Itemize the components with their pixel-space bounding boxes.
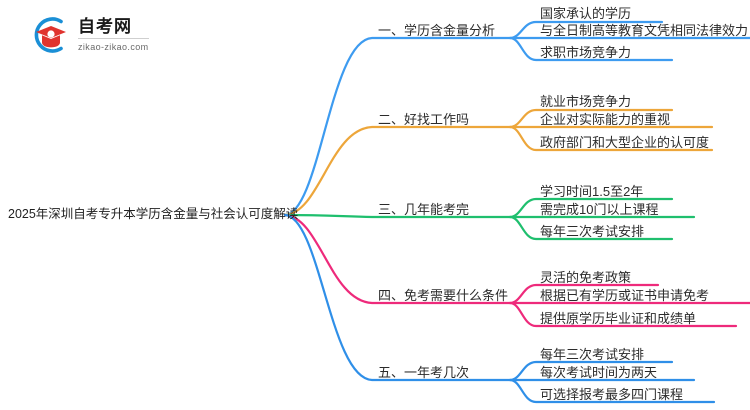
site-logo: 自考网 zikao-zikao.com <box>30 10 200 60</box>
branch-node-2[interactable]: 二、好找工作吗 <box>378 113 469 126</box>
leaf-node-2-2[interactable]: 企业对实际能力的重视 <box>540 113 670 126</box>
leaf-node-2-1[interactable]: 就业市场竞争力 <box>540 95 631 108</box>
logo-title: 自考网 <box>78 17 149 39</box>
branch-node-1[interactable]: 一、学历含金量分析 <box>378 24 495 37</box>
leaf-node-4-2[interactable]: 根据已有学历或证书申请免考 <box>540 289 709 302</box>
logo-mark-icon <box>30 14 72 56</box>
leaf-node-1-1[interactable]: 国家承认的学历 <box>540 7 631 20</box>
leaf-node-4-3[interactable]: 提供原学历毕业证和成绩单 <box>540 312 696 325</box>
leaf-node-5-3[interactable]: 可选择报考最多四门课程 <box>540 388 683 401</box>
branch-node-4[interactable]: 四、免考需要什么条件 <box>378 289 508 302</box>
mindmap-canvas: 自考网 zikao-zikao.com <box>0 0 750 410</box>
graduation-cap-icon <box>30 14 72 56</box>
root-node[interactable]: 2025年深圳自考专升本学历含金量与社会认可度解读 <box>8 208 298 221</box>
logo-text: 自考网 zikao-zikao.com <box>78 17 149 54</box>
branch-node-3[interactable]: 三、几年能考完 <box>378 203 469 216</box>
leaf-node-5-1[interactable]: 每年三次考试安排 <box>540 348 644 361</box>
branch-node-5[interactable]: 五、一年考几次 <box>378 366 469 379</box>
leaf-node-2-3[interactable]: 政府部门和大型企业的认可度 <box>540 136 709 149</box>
leaf-node-3-3[interactable]: 每年三次考试安排 <box>540 225 644 238</box>
leaf-node-1-2[interactable]: 与全日制高等教育文凭相同法律效力 <box>540 24 748 37</box>
leaf-node-3-2[interactable]: 需完成10门以上课程 <box>540 203 658 216</box>
leaf-node-1-3[interactable]: 求职市场竞争力 <box>540 46 631 59</box>
leaf-node-4-1[interactable]: 灵活的免考政策 <box>540 271 631 284</box>
leaf-node-3-1[interactable]: 学习时间1.5至2年 <box>540 185 643 198</box>
logo-subtitle: zikao-zikao.com <box>78 41 149 54</box>
leaf-node-5-2[interactable]: 每次考试时间为两天 <box>540 366 657 379</box>
